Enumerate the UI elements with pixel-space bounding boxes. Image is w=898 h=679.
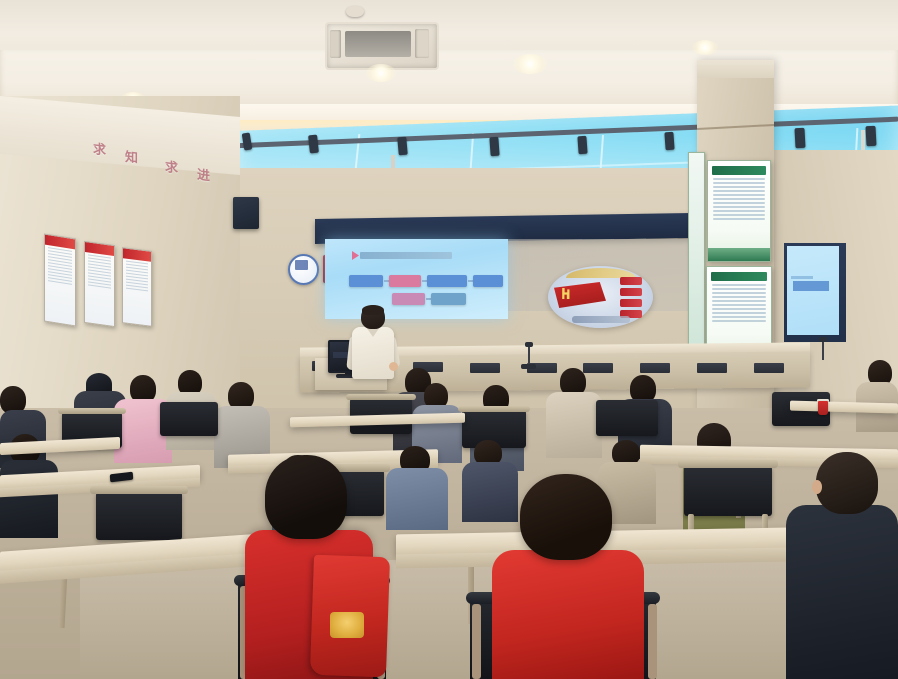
green-side-banner [688, 152, 705, 354]
chair-armrest [58, 408, 126, 414]
air-conditioner-vane-left [330, 30, 341, 58]
calligraphy-character: 进 [197, 164, 210, 185]
red-cup-on-desk [818, 401, 828, 415]
presenter-hand [389, 362, 398, 371]
air-conditioner-grille [345, 31, 411, 57]
microphone-stem [822, 340, 824, 360]
air-conditioner-vane-right [415, 29, 429, 58]
secondary-display-box [793, 281, 829, 291]
person-dark-suit-right [786, 505, 898, 679]
green-poster-footer [708, 248, 770, 261]
chair-back [684, 466, 772, 516]
chair-armrest [90, 486, 188, 494]
downlight-icon [366, 64, 396, 82]
calligraphy-character: 知 [125, 146, 138, 167]
chair-armrest [678, 460, 778, 468]
flow-box-1 [349, 275, 383, 287]
track-spotlight-icon [865, 126, 876, 146]
dais-seat-panel [583, 363, 613, 373]
emblem-tag [620, 288, 642, 296]
emblem-tag [620, 277, 642, 285]
downlight-icon [513, 54, 547, 74]
microphone-base [521, 364, 536, 369]
person-red-right-head [520, 474, 612, 560]
flow-box-5 [392, 293, 425, 305]
training-room-scene: 求 知 求 进 [0, 0, 898, 679]
person-red-left-head [265, 455, 347, 539]
track-spotlight-icon [794, 128, 805, 148]
person-red-right-body [492, 550, 644, 679]
person-dark-suit-head [816, 452, 878, 514]
calligraphy-character: 求 [93, 138, 106, 159]
smoke-detector-icon [346, 6, 364, 17]
chair-frame-right [648, 604, 657, 679]
person-body [386, 468, 448, 530]
dais-seat-panel [754, 363, 784, 373]
gooseneck-microphone-icon [525, 342, 533, 347]
green-poster-upper [707, 160, 771, 262]
emblem-tag [620, 299, 642, 307]
flow-box-2 [389, 275, 421, 287]
floor-light-sheen [80, 560, 840, 679]
dais-seat-panel [640, 363, 670, 373]
chair-back [160, 402, 218, 436]
notice-board-3 [122, 247, 152, 327]
person-body [462, 462, 518, 522]
track-spotlight-icon [308, 135, 319, 154]
wall-loudspeaker-icon [233, 197, 259, 229]
track-spotlight-icon [664, 132, 674, 151]
presenter-hair-fringe [362, 305, 384, 315]
volunteer-vest-emblem-icon [330, 612, 364, 638]
notice-board-1 [44, 233, 76, 326]
person-ear [812, 480, 822, 494]
flow-box-4 [473, 275, 503, 287]
slide-heading [360, 252, 452, 259]
emblem-base-decoration [572, 316, 630, 323]
institution-emblem-inner [295, 260, 308, 270]
gooseneck-microphone-icon [819, 337, 827, 342]
chair-armrest [346, 394, 416, 400]
person-body [546, 392, 602, 458]
downlight-icon [692, 40, 718, 55]
pillar-cap [697, 60, 774, 78]
dais-seat-panel [470, 363, 500, 373]
chair-armrest [458, 406, 530, 412]
notice-board-2 [84, 241, 115, 327]
flow-box-6 [431, 293, 466, 305]
chair-back [596, 400, 658, 436]
track-spotlight-icon [489, 137, 499, 157]
track-spotlight-icon [577, 136, 587, 155]
secondary-display-line [791, 276, 813, 279]
green-poster-header [711, 272, 767, 281]
track-spotlight-icon [397, 137, 408, 156]
notice-board-header [123, 248, 151, 261]
green-poster-header [712, 166, 766, 175]
dais-seat-panel [697, 363, 727, 373]
calligraphy-character: 求 [165, 156, 178, 177]
chair-back [96, 492, 182, 540]
chair-frame-left [472, 604, 481, 679]
flow-box-3 [427, 275, 467, 287]
